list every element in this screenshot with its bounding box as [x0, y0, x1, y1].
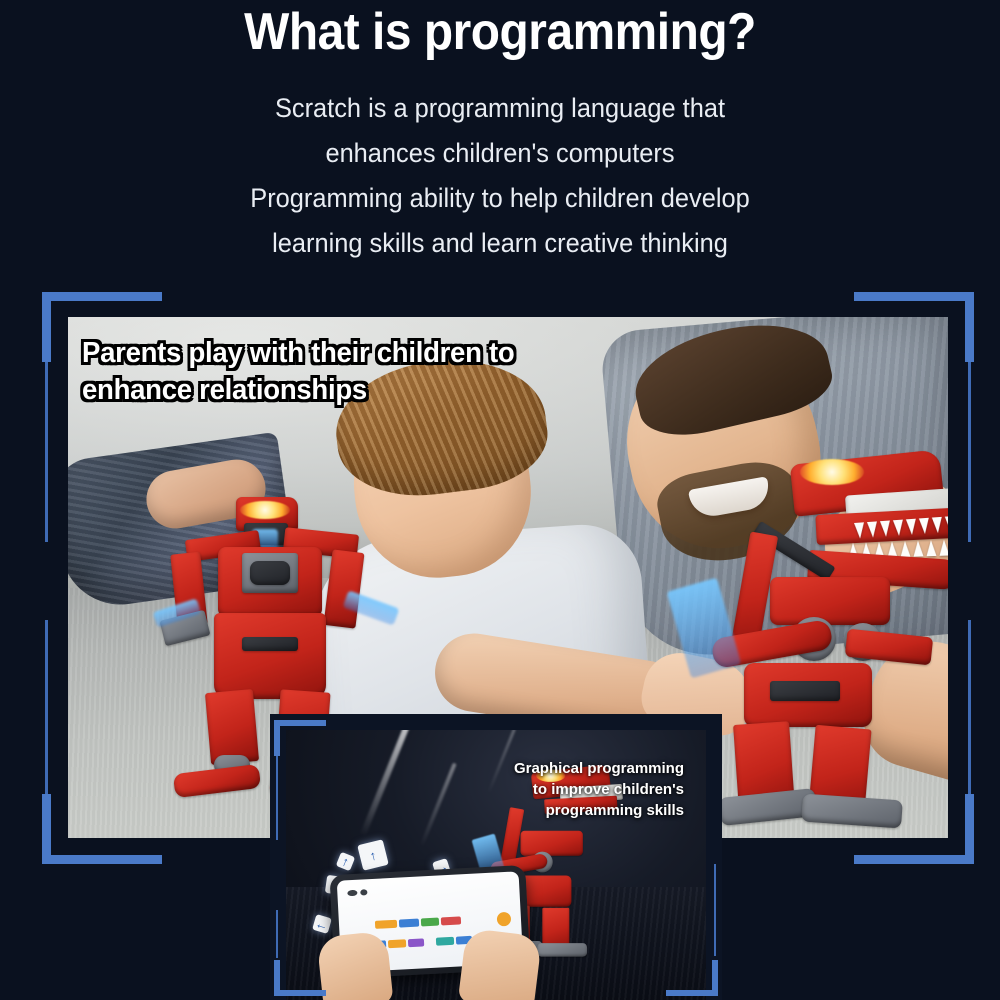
intro-line-3: Programming ability to help children dev…: [30, 176, 970, 221]
red-block-dinosaur: [696, 437, 948, 838]
promo-page: What is programming? Scratch is a progra…: [0, 0, 1000, 1000]
inset-corner-bracket-bottom-right: [666, 864, 718, 996]
code-card: ↑: [357, 839, 389, 871]
inset-corner-bracket-bottom-left: [274, 910, 326, 996]
intro-line-4: learning skills and learn creative think…: [30, 221, 970, 266]
inset-photo: ↑ ← → ↓ ← → ↓ ↑ →: [286, 730, 706, 1000]
intro-line-2: enhances children's computers: [30, 131, 970, 176]
main-photo-caption: Parents play with their children to enha…: [82, 335, 514, 409]
left-hand: [316, 931, 393, 1000]
page-title: What is programming?: [40, 2, 960, 62]
intro-paragraph: Scratch is a programming language that e…: [30, 86, 970, 266]
inset-caption-line-3: programming skills: [514, 800, 684, 821]
inset-panel: ↑ ← → ↓ ← → ↓ ↑ →: [270, 714, 722, 1000]
code-card: ↑: [336, 852, 356, 872]
intro-line-1: Scratch is a programming language that: [30, 86, 970, 131]
inset-caption-line-2: to improve children's: [514, 779, 684, 800]
main-photo-caption-line-2: enhance relationships: [82, 372, 514, 409]
inset-caption: Graphical programming to improve childre…: [514, 758, 684, 821]
inset-corner-bracket-top-left: [274, 720, 326, 840]
main-photo-caption-line-1: Parents play with their children to: [82, 335, 514, 372]
robot-led-eye: [240, 501, 290, 519]
right-hand: [458, 928, 542, 1000]
dinosaur-led-eye: [800, 459, 864, 485]
inset-caption-line-1: Graphical programming: [514, 758, 684, 779]
